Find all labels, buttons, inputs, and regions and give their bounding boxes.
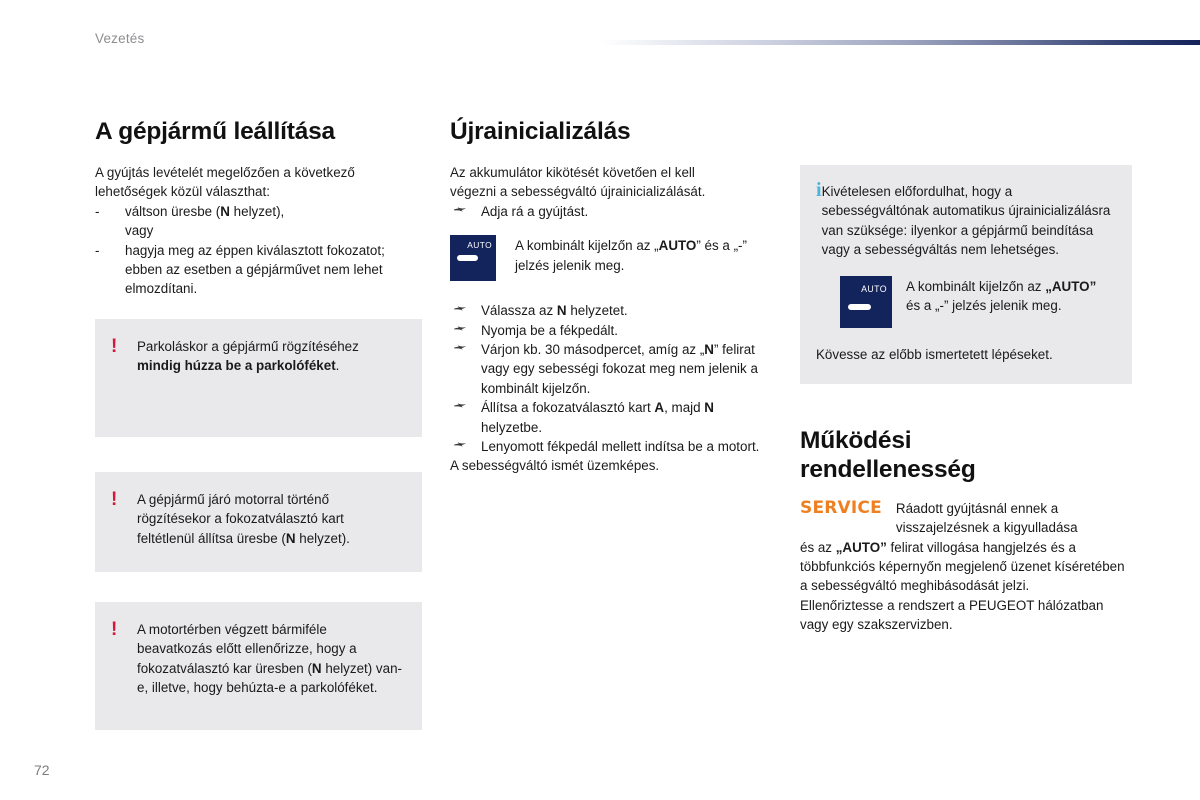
warning-icon: ! (111, 490, 137, 510)
list-item-text: Állítsa a fokozatválasztó kart A, majd N… (481, 400, 714, 434)
malf-rest-a: és az (800, 540, 836, 555)
step2-bold: N (704, 342, 714, 357)
auto-gearbox-indicator-icon: AUTO (450, 235, 496, 281)
dash-marker-icon: - (95, 202, 99, 221)
list-item-text: váltson üresbe (N helyzet), (125, 204, 284, 219)
list-item-text: Adja rá a gyújtást. (481, 204, 588, 219)
info-pict-a: A kombinált kijelzőn az (906, 279, 1045, 294)
col1-intro-line1: A gyújtás levételét megelőzően a követke… (95, 165, 355, 180)
column-vehicle-shutdown: A gépjármű leállítása A gyújtás levételé… (95, 118, 422, 730)
list-item-text: Válassza az N helyzetet. (481, 303, 628, 318)
auto-icon-label: AUTO (467, 240, 492, 250)
step2-a: Várjon kb. 30 másodpercet, amíg az „ (481, 342, 704, 357)
pointing-hand-icon (453, 438, 469, 452)
col2-intro-line2: végezni a sebességváltó újrainicializálá… (450, 184, 705, 199)
warning1-text-b: . (336, 358, 340, 373)
step3-b: , majd (664, 400, 704, 415)
pictogram-caption-bold: AUTO (659, 238, 697, 253)
auto-gearbox-indicator-icon: AUTO (840, 276, 892, 328)
malfunction-closing: Ellenőriztesse a rendszert a PEUGEOT hál… (800, 596, 1132, 635)
header-gradient-rule (600, 40, 1200, 45)
malfunction-title-line1: Működési (800, 427, 911, 454)
auto-icon-label: AUTO (861, 284, 887, 294)
col2-intro: Az akkumulátor kikötését követően el kel… (450, 163, 775, 202)
list-item: Adja rá a gyújtást. (450, 202, 775, 221)
warning1-text-a: Parkoláskor a gépjármű rögzítéséhez (137, 339, 359, 354)
column-side-notes: i Kivételesen előfordulhat, hogy a sebes… (800, 118, 1132, 635)
section-title-reinitialisation: Újrainicializálás (450, 118, 775, 147)
step0-a: Válassza az (481, 303, 557, 318)
info-pict-b: és a „-” jelzés jelenik meg. (906, 298, 1062, 313)
step3-c: helyzetbe. (481, 420, 542, 435)
col2-intro-line1: Az akkumulátor kikötését követően el kel… (450, 165, 695, 180)
dash-marker-icon: - (95, 241, 99, 260)
col1-option-list: - váltson üresbe (N helyzet), vagy - hag… (95, 202, 422, 299)
list-item: Állítsa a fokozatválasztó kart A, majd N… (450, 398, 775, 437)
step3-bold2: N (704, 400, 714, 415)
service-badge: SERVICE (800, 499, 882, 518)
step3-bold: A (654, 400, 664, 415)
warning1-bold: mindig húzza be a parkolóféket (137, 358, 336, 373)
column-reinitialisation: Újrainicializálás Az akkumulátor kikötés… (450, 118, 775, 476)
warning2-text-b: helyzet). (296, 531, 350, 546)
malfunction-title-line2: rendellenesség (800, 456, 976, 483)
malf-rest-bold: „AUTO” (836, 540, 887, 555)
info-box-text: Kivételesen előfordulhat, hogy a sebessé… (822, 182, 1114, 260)
malfunction-badge-row: SERVICE Ráadott gyújtásnál ennek a vissz… (800, 499, 1132, 538)
malf-line2: visszajelzésnek a kigyulladása (896, 520, 1078, 535)
pointing-hand-icon (453, 322, 469, 336)
list-item-text-b: helyzet), (230, 204, 284, 219)
col2-closing: A sebességváltó ismét üzemképes. (450, 456, 775, 475)
list-item-text: Várjon kb. 30 másodpercet, amíg az „N” f… (481, 342, 758, 396)
warning3-bold: N (312, 661, 322, 676)
list-item: Válassza az N helyzetet. (450, 301, 775, 320)
malf-line1: Ráadott gyújtásnál ennek a (896, 501, 1058, 516)
page-number: 72 (34, 762, 50, 778)
warning-box-engine-bay: ! A motortérben végzett bármiféle beavat… (95, 602, 422, 730)
list-item-text-a: váltson üresbe ( (125, 204, 220, 219)
malfunction-lead-text: Ráadott gyújtásnál ennek a visszajelzésn… (896, 499, 1132, 538)
col1-intro-line2: lehetőségek közül választhat: (95, 184, 270, 199)
step3-a: Állítsa a fokozatválasztó kart (481, 400, 654, 415)
step0-b: helyzetet. (567, 303, 628, 318)
col1-intro: A gyújtás levételét megelőzően a követke… (95, 163, 422, 202)
warning-box-engine-running: ! A gépjármű járó motorral történő rögzí… (95, 472, 422, 572)
list-item-text: hagyja meg az éppen kiválasztott fokozat… (125, 243, 385, 297)
info-pict-bold: „AUTO” (1045, 279, 1096, 294)
list-item-subline: vagy (125, 221, 422, 240)
step0-bold: N (557, 303, 567, 318)
warning-box-text: Parkoláskor a gépjármű rögzítéséhez mind… (137, 337, 404, 376)
malfunction-rest: és az „AUTO” felirat villogása hangjelzé… (800, 538, 1132, 596)
list-item-text: Nyomja be a fékpedált. (481, 323, 618, 338)
info-box-footer: Kövesse az előbb ismertetett lépéseket. (816, 345, 1114, 364)
warning-box-text: A gépjármű járó motorral történő rögzíté… (137, 490, 404, 548)
info-box-auto-reinitialisation: i Kivételesen előfordulhat, hogy a sebes… (800, 165, 1132, 384)
pointing-hand-icon (453, 399, 469, 413)
warning-icon: ! (111, 337, 137, 357)
pointing-hand-icon (453, 341, 469, 355)
pointing-hand-icon (453, 302, 469, 316)
col2-first-step-list: Adja rá a gyújtást. (450, 202, 775, 221)
page-title: A gépjármű leállítása (95, 118, 422, 147)
section-title-malfunction: Működési rendellenesség (800, 427, 1132, 485)
auto-icon-dash (848, 304, 871, 310)
list-item: Nyomja be a fékpedált. (450, 321, 775, 340)
auto-icon-dash (457, 255, 478, 261)
pictogram-caption: A kombinált kijelzőn az „AUTO” és a „-” … (892, 276, 1114, 316)
info-box-main-row: i Kivételesen előfordulhat, hogy a sebes… (816, 182, 1114, 260)
page-header: Vezetés (0, 0, 1200, 70)
list-item: Várjon kb. 30 másodpercet, amíg az „N” f… (450, 340, 775, 398)
malfunction-body: SERVICE Ráadott gyújtásnál ennek a vissz… (800, 499, 1132, 635)
warning2-bold: N (286, 531, 296, 546)
running-head: Vezetés (95, 31, 144, 46)
pictogram-row-auto: AUTO A kombinált kijelzőn az „AUTO” és a… (450, 235, 775, 281)
list-item: - hagyja meg az éppen kiválasztott fokoz… (95, 241, 422, 299)
col2-steps-list: Válassza az N helyzetet. Nyomja be a fék… (450, 301, 775, 456)
list-item: Lenyomott fékpedál mellett indítsa be a … (450, 437, 775, 456)
warning-box-parking-brake: ! Parkoláskor a gépjármű rögzítéséhez mi… (95, 319, 422, 437)
list-item-text: Lenyomott fékpedál mellett indítsa be a … (481, 439, 759, 454)
list-item-bold: N (220, 204, 230, 219)
list-item: - váltson üresbe (N helyzet), vagy (95, 202, 422, 241)
warning-icon: ! (111, 620, 137, 640)
pictogram-caption: A kombinált kijelzőn az „AUTO” és a „-” … (496, 235, 775, 275)
pointing-hand-icon (453, 203, 469, 217)
pictogram-row-auto-info: AUTO A kombinált kijelzőn az „AUTO” és a… (816, 276, 1114, 328)
warning-box-text: A motortérben végzett bármiféle beavatko… (137, 620, 404, 698)
pictogram-caption-a: A kombinált kijelzőn az „ (515, 238, 659, 253)
